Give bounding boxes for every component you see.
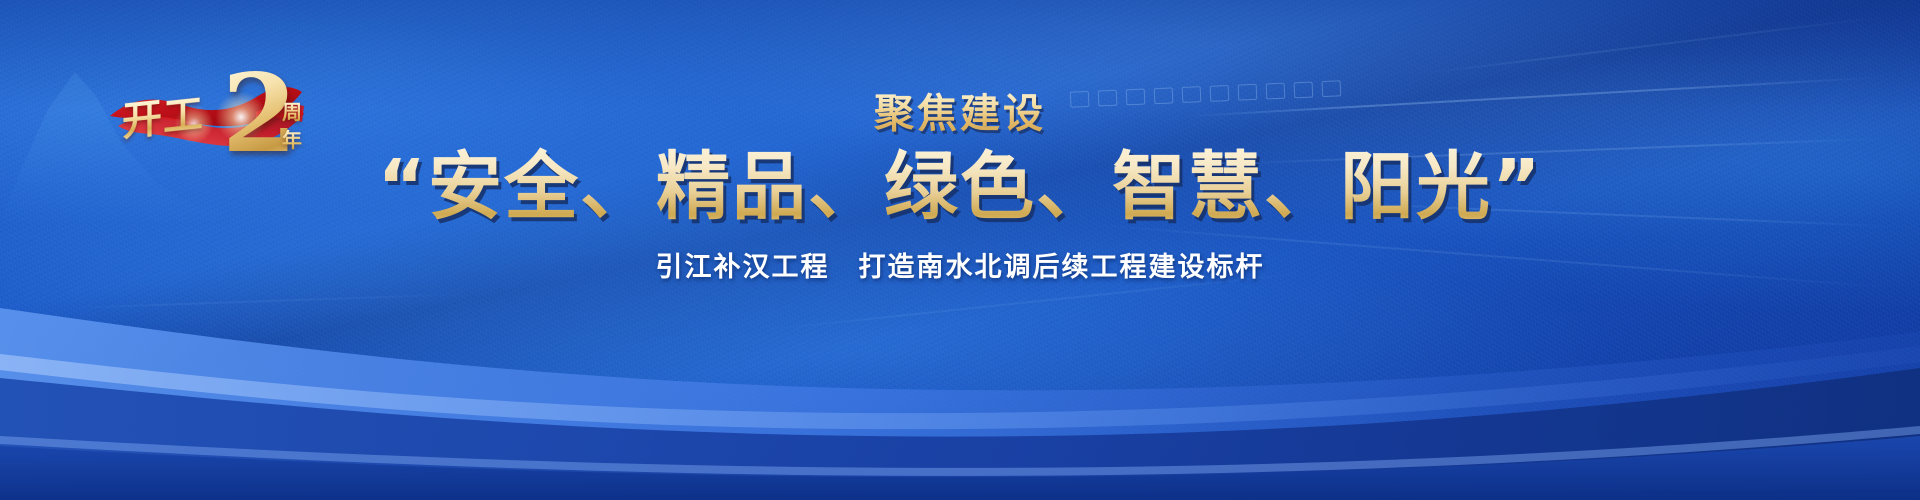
anniversary-banner: 开工 2 周 年 聚焦建设 “安全、精品、绿色、智慧、阳光” 引江补汉工程 打造… (0, 0, 1920, 500)
headline-block: 聚焦建设 “安全、精品、绿色、智慧、阳光” 引江补汉工程 打造南水北调后续工程建… (0, 90, 1920, 286)
wave-ribbons (0, 250, 1920, 500)
subtitle-text: 引江补汉工程 打造南水北调后续工程建设标杆 (0, 250, 1920, 286)
main-headline: “安全、精品、绿色、智慧、阳光” (0, 144, 1920, 230)
eyebrow-title: 聚焦建设 (0, 90, 1920, 138)
